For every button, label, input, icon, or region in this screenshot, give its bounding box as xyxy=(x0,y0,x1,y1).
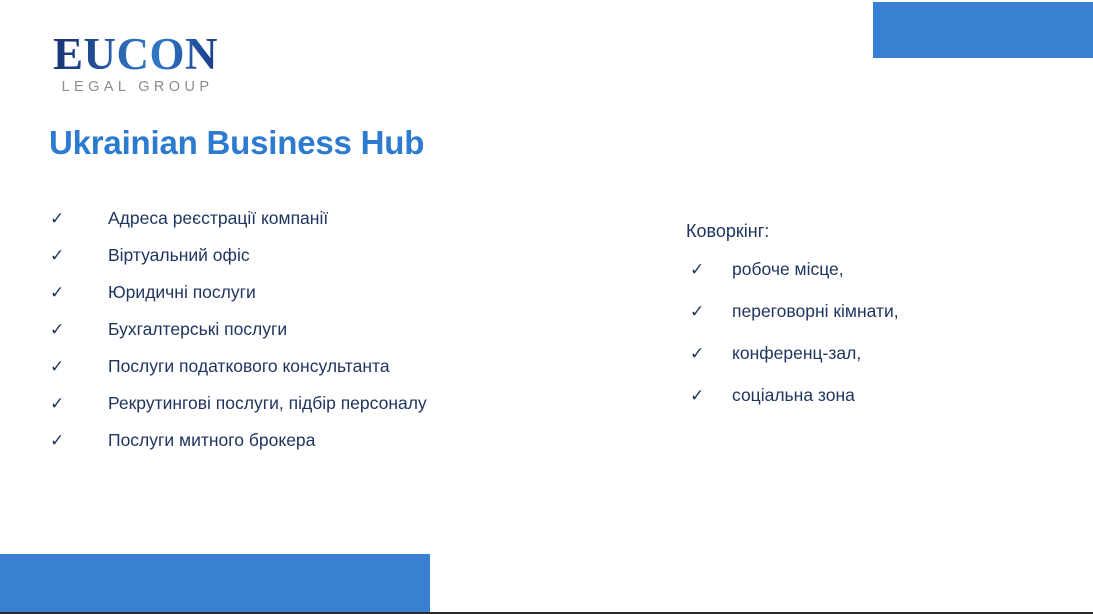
services-column: ✓ Адреса реєстрації компанії ✓ Віртуальн… xyxy=(50,207,610,466)
decorative-block-bottom-left xyxy=(0,554,430,612)
check-icon: ✓ xyxy=(684,301,732,323)
list-item-label: конференц-зал, xyxy=(732,342,861,364)
list-item-label: Рекрутингові послуги, підбір персоналу xyxy=(108,392,427,414)
check-icon: ✓ xyxy=(684,259,732,281)
check-icon: ✓ xyxy=(684,385,732,407)
list-item-label: Бухгалтерські послуги xyxy=(108,318,287,340)
logo-wordmark: EUCON xyxy=(38,31,233,77)
check-icon: ✓ xyxy=(50,356,108,378)
page-title: Ukrainian Business Hub xyxy=(49,124,424,162)
list-item-label: соціальна зона xyxy=(732,384,855,406)
list-item: ✓ Віртуальний офіс xyxy=(50,244,610,267)
list-item: ✓ соціальна зона xyxy=(684,384,1064,407)
check-icon: ✓ xyxy=(50,208,108,230)
decorative-block-top-right xyxy=(873,2,1093,58)
coworking-heading: Коворкінг: xyxy=(686,220,1064,242)
logo-tagline: LEGAL GROUP xyxy=(38,79,233,95)
list-item-label: переговорні кімнати, xyxy=(732,300,899,322)
check-icon: ✓ xyxy=(50,245,108,267)
coworking-list: ✓ робоче місце, ✓ переговорні кімнати, ✓… xyxy=(684,258,1064,407)
check-icon: ✓ xyxy=(50,319,108,341)
check-icon: ✓ xyxy=(50,430,108,452)
list-item: ✓ Адреса реєстрації компанії xyxy=(50,207,610,230)
eucon-logo: EUCON LEGAL GROUP xyxy=(38,31,233,95)
list-item: ✓ Бухгалтерські послуги xyxy=(50,318,610,341)
list-item-label: Юридичні послуги xyxy=(108,281,256,303)
list-item-label: Послуги податкового консультанта xyxy=(108,355,390,377)
list-item: ✓ Юридичні послуги xyxy=(50,281,610,304)
list-item: ✓ Рекрутингові послуги, підбір персоналу xyxy=(50,392,610,415)
check-icon: ✓ xyxy=(684,343,732,365)
list-item-label: Віртуальний офіс xyxy=(108,244,250,266)
check-icon: ✓ xyxy=(50,393,108,415)
list-item-label: Адреса реєстрації компанії xyxy=(108,207,328,229)
list-item-label: робоче місце, xyxy=(732,258,844,280)
list-item: ✓ робоче місце, xyxy=(684,258,1064,281)
list-item: ✓ Послуги митного брокера xyxy=(50,429,610,452)
presentation-slide: EUCON LEGAL GROUP Ukrainian Business Hub… xyxy=(0,0,1093,614)
services-list: ✓ Адреса реєстрації компанії ✓ Віртуальн… xyxy=(50,207,610,452)
list-item: ✓ Послуги податкового консультанта xyxy=(50,355,610,378)
list-item: ✓ переговорні кімнати, xyxy=(684,300,1064,323)
list-item-label: Послуги митного брокера xyxy=(108,429,315,451)
coworking-column: Коворкінг: ✓ робоче місце, ✓ переговорні… xyxy=(684,220,1064,426)
check-icon: ✓ xyxy=(50,282,108,304)
list-item: ✓ конференц-зал, xyxy=(684,342,1064,365)
